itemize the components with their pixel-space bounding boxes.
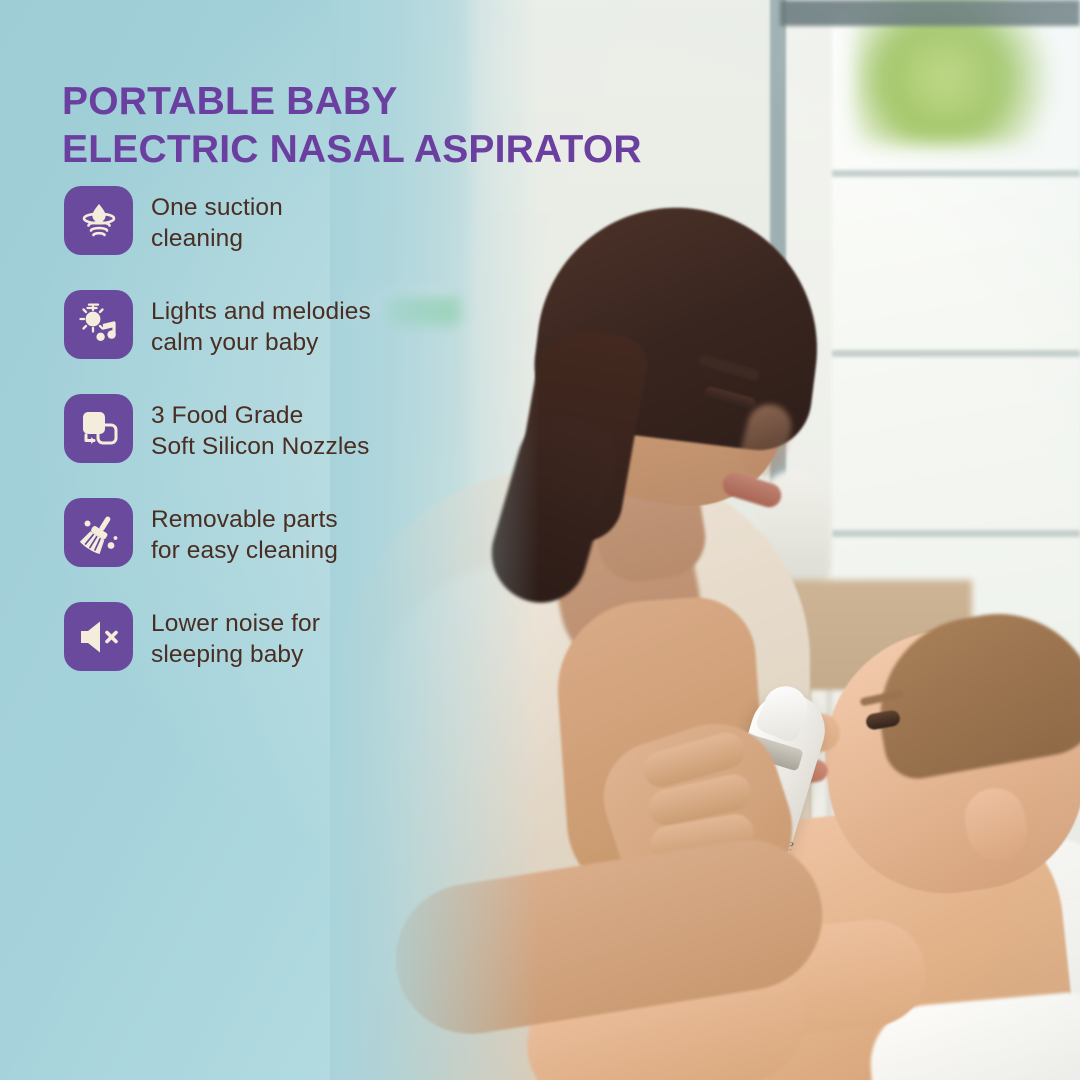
feature-item-removable-parts: Removable parts for easy cleaning (64, 498, 504, 602)
feature-line-2: cleaning (151, 223, 283, 254)
page-title: PORTABLE BABY ELECTRIC NASAL ASPIRATOR (62, 78, 642, 175)
feature-item-lights-and-melodies: Lights and melodies calm your baby (64, 290, 504, 394)
feature-item-lower-noise: Lower noise for sleeping baby (64, 602, 504, 706)
feature-line-2: sleeping baby (151, 639, 320, 670)
feature-label: One suction cleaning (151, 186, 283, 254)
feature-line-1: One suction (151, 192, 283, 223)
feature-label: Lower noise for sleeping baby (151, 602, 320, 670)
sun-music-note-icon (64, 290, 133, 359)
feature-label: Lights and melodies calm your baby (151, 290, 371, 358)
feature-item-food-grade-nozzles: 3 Food Grade Soft Silicon Nozzles (64, 394, 504, 498)
window-mullion (832, 530, 1080, 537)
swap-squares-icon (64, 394, 133, 463)
droplet-suction-icon (64, 186, 133, 255)
window-header-bar (780, 0, 1080, 26)
feature-line-1: 3 Food Grade (151, 400, 370, 431)
speaker-mute-icon (64, 602, 133, 671)
feature-list: One suction cleaning (64, 186, 504, 706)
feature-label: Removable parts for easy cleaning (151, 498, 338, 566)
headline-line-1: PORTABLE BABY (62, 78, 642, 126)
feature-line-1: Lower noise for (151, 608, 320, 639)
feature-label: 3 Food Grade Soft Silicon Nozzles (151, 394, 370, 462)
window-mullion (832, 170, 1080, 177)
feature-line-2: for easy cleaning (151, 535, 338, 566)
infographic-canvas: Bubsie PORTABLE BABY ELECTRIC NASAL ASPI… (0, 0, 1080, 1080)
headline-line-2: ELECTRIC NASAL ASPIRATOR (62, 126, 642, 174)
feature-line-2: Soft Silicon Nozzles (151, 431, 370, 462)
window-mullion (832, 350, 1080, 357)
feature-line-1: Lights and melodies (151, 296, 371, 327)
feature-line-2: calm your baby (151, 327, 371, 358)
broom-sparkle-icon (64, 498, 133, 567)
feature-item-one-suction-cleaning: One suction cleaning (64, 186, 504, 290)
feature-line-1: Removable parts (151, 504, 338, 535)
